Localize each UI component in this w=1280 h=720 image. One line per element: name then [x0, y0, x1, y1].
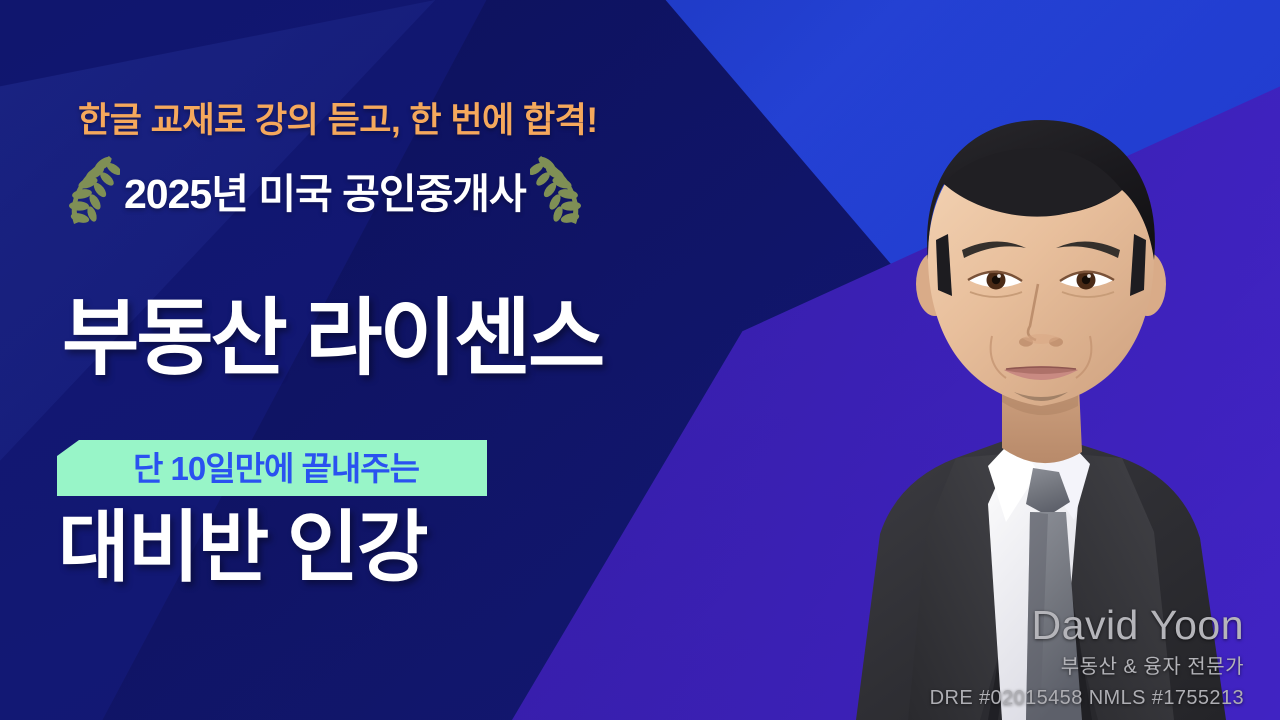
- laurel-branch-right-icon: [530, 152, 588, 228]
- banner-content: 한글 교재로 강의 듣고, 한 번에 합격!: [0, 0, 760, 720]
- duration-badge-text: 단 10일만에 끝내주는: [125, 452, 419, 485]
- duration-badge: 단 10일만에 끝내주는: [57, 440, 487, 496]
- laurel-branch-left-icon: [62, 152, 120, 228]
- award-line-row: 2025년 미국 공인중개사: [62, 152, 712, 228]
- instructor-role: 부동산 & 융자 전문가: [930, 655, 1244, 679]
- instructor-name: David Yoon: [930, 602, 1244, 649]
- instructor-credentials: David Yoon 부동산 & 융자 전문가 DRE #02015458 NM…: [930, 602, 1244, 710]
- award-line-text: 2025년 미국 공인중개사: [120, 160, 530, 220]
- headline-sub: 대비반 인강: [58, 508, 426, 586]
- promo-banner: 한글 교재로 강의 듣고, 한 번에 합격!: [0, 0, 1280, 720]
- kicker-text: 한글 교재로 강의 듣고, 한 번에 합격!: [78, 92, 598, 143]
- headline-main: 부동산 라이센스: [62, 296, 602, 380]
- instructor-license-numbers: DRE #02015458 NMLS #1755213: [930, 686, 1244, 710]
